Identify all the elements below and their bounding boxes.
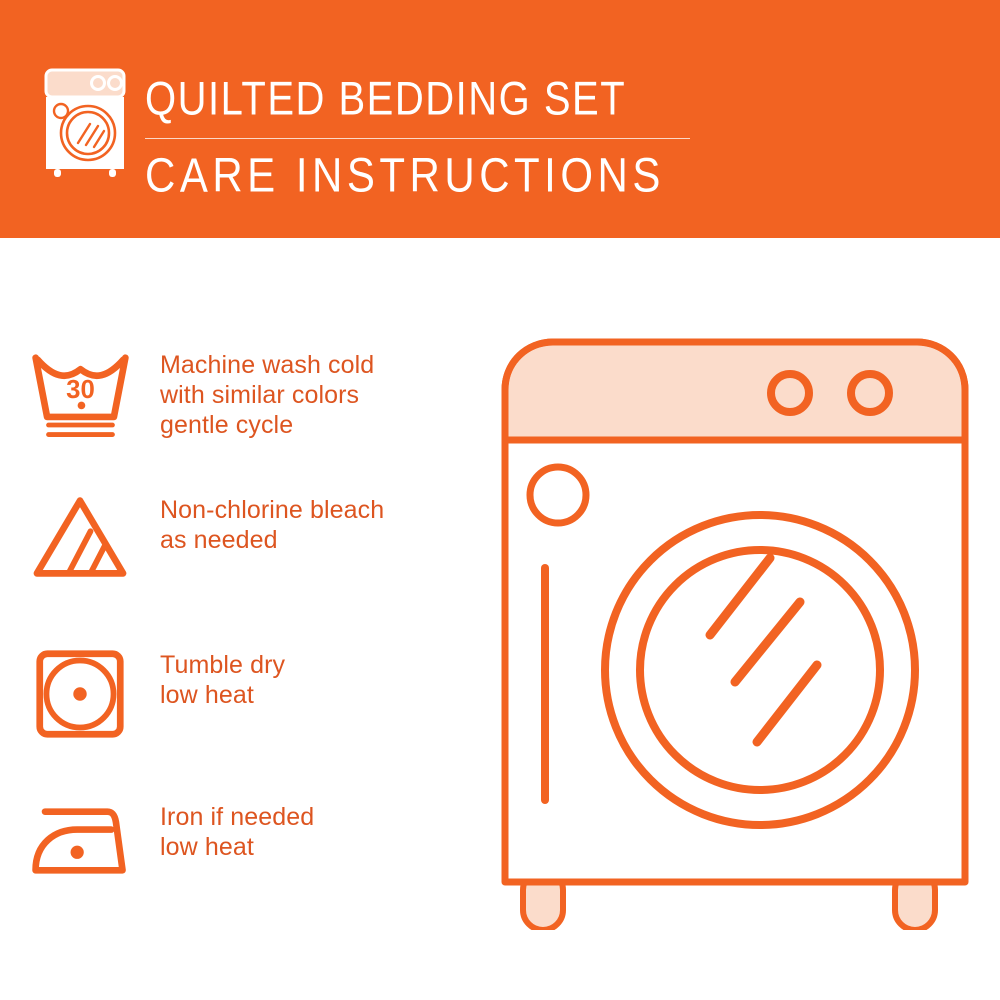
care-instruction-item: Tumble dry low heat [0, 648, 500, 740]
care-instruction-item: Non-chlorine bleach as needed [0, 493, 500, 581]
care-text-line: with similar colors [160, 380, 374, 410]
wash-temperature-label: 30 [66, 376, 95, 404]
care-text-line: Iron if needed [160, 802, 314, 832]
care-text-line: low heat [160, 680, 285, 710]
care-instruction-text: Machine wash cold with similar colors ge… [160, 348, 374, 440]
page-title: QUILTED BEDDING SET [145, 72, 705, 126]
care-text-line: gentle cycle [160, 410, 374, 440]
title-divider [145, 138, 690, 139]
tumble-dry-low-heat-icon [0, 648, 160, 740]
care-instruction-item: 30 Machine wash cold with similar colors… [0, 348, 500, 440]
washing-machine-icon [42, 68, 128, 178]
header-banner: QUILTED BEDDING SET CARE INSTRUCTIONS [0, 0, 1000, 238]
front-load-washing-machine-illustration [495, 330, 975, 930]
non-chlorine-bleach-icon [0, 493, 160, 581]
care-instructions-list: 30 Machine wash cold with similar colors… [0, 238, 500, 1000]
care-text-line: as needed [160, 525, 384, 555]
header-title-block: QUILTED BEDDING SET CARE INSTRUCTIONS [145, 72, 705, 196]
iron-low-heat-icon [0, 800, 160, 880]
care-instruction-text: Iron if needed low heat [160, 800, 314, 862]
care-text-line: Machine wash cold [160, 350, 374, 380]
care-instruction-text: Non-chlorine bleach as needed [160, 493, 384, 555]
care-instruction-item: Iron if needed low heat [0, 800, 500, 880]
care-text-line: Non-chlorine bleach [160, 495, 384, 525]
care-text-line: Tumble dry [160, 650, 285, 680]
page-subtitle: CARE INSTRUCTIONS [145, 148, 705, 203]
care-text-line: low heat [160, 832, 314, 862]
machine-wash-cold-icon: 30 [0, 348, 160, 440]
care-instruction-text: Tumble dry low heat [160, 648, 285, 710]
